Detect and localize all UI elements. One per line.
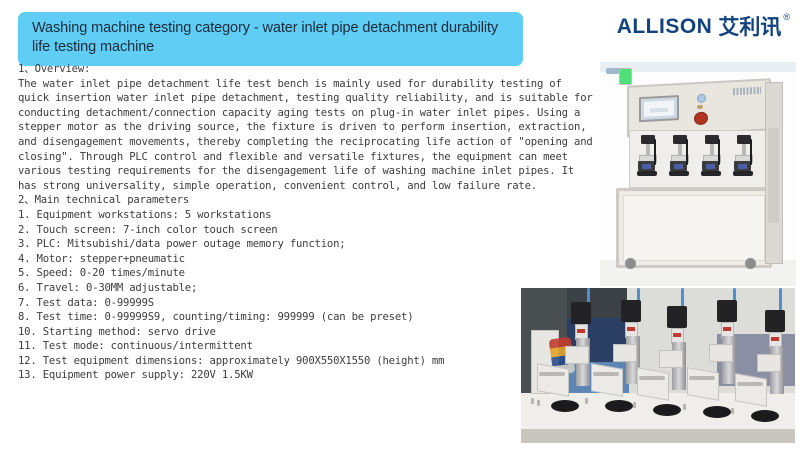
brand-logo: ALLISON 艾利讯 ® [617, 16, 790, 38]
machine-side-column-inner [768, 128, 779, 223]
parameter-item: 6. Travel: 0-30MM adjustable; [18, 281, 598, 296]
parameter-item: 8. Test time: 0-99999S9, counting/timing… [18, 310, 598, 325]
page-title-line1: Washing machine testing category - water… [32, 19, 511, 38]
parameters-heading: 2、Main technical parameters [18, 193, 598, 208]
start-button-icon [697, 94, 706, 103]
slide-page: Washing machine testing category - water… [0, 0, 800, 450]
parameter-item: 13. Equipment power supply: 220V 1.5KW [18, 368, 598, 383]
machine-photo [600, 58, 796, 286]
page-title-banner: Washing machine testing category - water… [18, 12, 523, 66]
overview-heading: 1、Overview: [18, 62, 598, 77]
brand-name-en: ALLISON [617, 16, 713, 38]
page-title-line2: life testing machine [32, 38, 511, 57]
parameter-item: 1. Equipment workstations: 5 workstation… [18, 208, 598, 223]
brand-name-cn: 艾利讯 [718, 16, 781, 38]
panel-logo [733, 87, 761, 95]
parameter-item: 7. Test data: 0-99999S [18, 296, 598, 311]
parameter-item: 5. Speed: 0-20 times/minute [18, 266, 598, 281]
parameter-item: 3. PLC: Mitsubishi/data power outage mem… [18, 237, 598, 252]
machine-station [702, 135, 722, 183]
workstation-detail-photo [521, 288, 795, 443]
parameter-item: 10. Starting method: servo drive [18, 325, 598, 340]
workstation-area [629, 130, 767, 188]
parameter-item: 11. Test mode: continuous/intermittent [18, 339, 598, 354]
emergency-stop-button-icon [694, 112, 708, 126]
machine-base-cabinet [616, 188, 772, 268]
machine-station [638, 135, 658, 183]
machine-body [610, 68, 782, 280]
touch-screen [639, 95, 679, 122]
parameter-item: 2. Touch screen: 7-inch color touch scre… [18, 223, 598, 238]
parameter-item: 12. Test equipment dimensions: approxima… [18, 354, 598, 369]
indicator-lamp-icon [697, 105, 703, 109]
parameter-item: 4. Motor: stepper+pneumatic [18, 252, 598, 267]
body-text-block: 1、Overview: The water inlet pipe detachm… [18, 62, 598, 383]
control-panel [627, 78, 771, 138]
indicator-tower-light-icon [619, 68, 632, 85]
overview-paragraph: The water inlet pipe detachment life tes… [18, 77, 598, 194]
registered-trademark-icon: ® [783, 12, 790, 22]
machine-station [670, 135, 690, 183]
detail-bench-front [521, 429, 795, 443]
machine-station [734, 135, 754, 183]
